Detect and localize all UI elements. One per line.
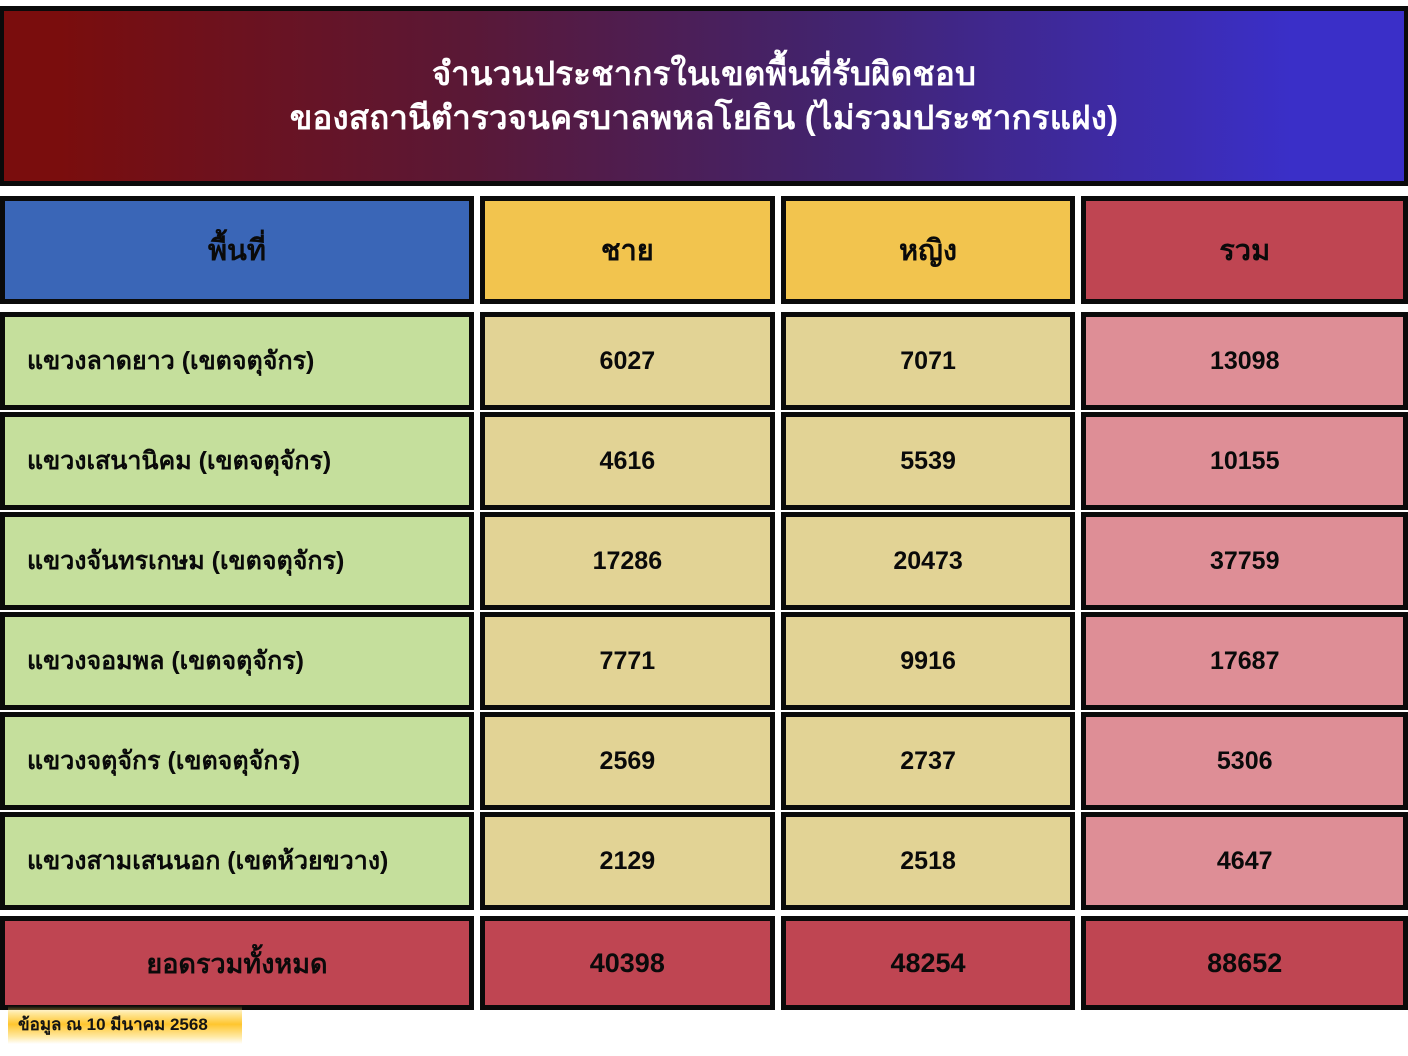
cell-total: 4647 bbox=[1081, 812, 1408, 910]
table-header-row: พื้นที่ ชาย หญิง รวม bbox=[0, 196, 1408, 304]
page-title-line-2: ของสถานีตำรวจนครบาลพหลโยธิน (ไม่รวมประชา… bbox=[290, 96, 1118, 140]
table-row: แขวงสามเสนนอก (เขตห้วยขวาง) 2129 2518 46… bbox=[0, 812, 1408, 910]
table-row: แขวงจอมพล (เขตจตุจักร) 7771 9916 17687 bbox=[0, 612, 1408, 710]
total-row-total: 88652 bbox=[1081, 916, 1408, 1010]
population-table: พื้นที่ ชาย หญิง รวม แขวงลาดยาว (เขตจตุจ… bbox=[0, 196, 1408, 1010]
cell-female: 7071 bbox=[781, 312, 1076, 410]
cell-male: 2569 bbox=[480, 712, 775, 810]
cell-male: 7771 bbox=[480, 612, 775, 710]
population-table-slide: จำนวนประชากรในเขตพื้นที่รับผิดชอบ ของสถา… bbox=[0, 0, 1408, 1056]
cell-male: 6027 bbox=[480, 312, 775, 410]
cell-area: แขวงเสนานิคม (เขตจตุจักร) bbox=[0, 412, 474, 510]
table-total-row: ยอดรวมทั้งหมด 40398 48254 88652 bbox=[0, 916, 1408, 1010]
cell-area: แขวงจันทรเกษม (เขตจตุจักร) bbox=[0, 512, 474, 610]
column-header-male: ชาย bbox=[480, 196, 775, 304]
cell-female: 5539 bbox=[781, 412, 1076, 510]
cell-total: 5306 bbox=[1081, 712, 1408, 810]
total-row-male: 40398 bbox=[480, 916, 775, 1010]
total-row-female: 48254 bbox=[781, 916, 1076, 1010]
cell-male: 2129 bbox=[480, 812, 775, 910]
table-row: แขวงจตุจักร (เขตจตุจักร) 2569 2737 5306 bbox=[0, 712, 1408, 810]
total-row-label: ยอดรวมทั้งหมด bbox=[0, 916, 474, 1010]
cell-area: แขวงจตุจักร (เขตจตุจักร) bbox=[0, 712, 474, 810]
cell-female: 9916 bbox=[781, 612, 1076, 710]
data-as-of-note: ข้อมูล ณ 10 มีนาคม 2568 bbox=[8, 1006, 242, 1044]
cell-male: 17286 bbox=[480, 512, 775, 610]
cell-total: 10155 bbox=[1081, 412, 1408, 510]
cell-female: 2737 bbox=[781, 712, 1076, 810]
cell-area: แขวงลาดยาว (เขตจตุจักร) bbox=[0, 312, 474, 410]
column-header-total: รวม bbox=[1081, 196, 1408, 304]
cell-total: 13098 bbox=[1081, 312, 1408, 410]
cell-male: 4616 bbox=[480, 412, 775, 510]
column-header-female: หญิง bbox=[781, 196, 1076, 304]
cell-area: แขวงจอมพล (เขตจตุจักร) bbox=[0, 612, 474, 710]
cell-total: 37759 bbox=[1081, 512, 1408, 610]
table-row: แขวงเสนานิคม (เขตจตุจักร) 4616 5539 1015… bbox=[0, 412, 1408, 510]
cell-area: แขวงสามเสนนอก (เขตห้วยขวาง) bbox=[0, 812, 474, 910]
cell-female: 20473 bbox=[781, 512, 1076, 610]
table-row: แขวงลาดยาว (เขตจตุจักร) 6027 7071 13098 bbox=[0, 312, 1408, 410]
title-banner: จำนวนประชากรในเขตพื้นที่รับผิดชอบ ของสถา… bbox=[0, 6, 1408, 186]
page-title-line-1: จำนวนประชากรในเขตพื้นที่รับผิดชอบ bbox=[432, 52, 976, 96]
column-header-area: พื้นที่ bbox=[0, 196, 474, 304]
cell-female: 2518 bbox=[781, 812, 1076, 910]
cell-total: 17687 bbox=[1081, 612, 1408, 710]
table-row: แขวงจันทรเกษม (เขตจตุจักร) 17286 20473 3… bbox=[0, 512, 1408, 610]
